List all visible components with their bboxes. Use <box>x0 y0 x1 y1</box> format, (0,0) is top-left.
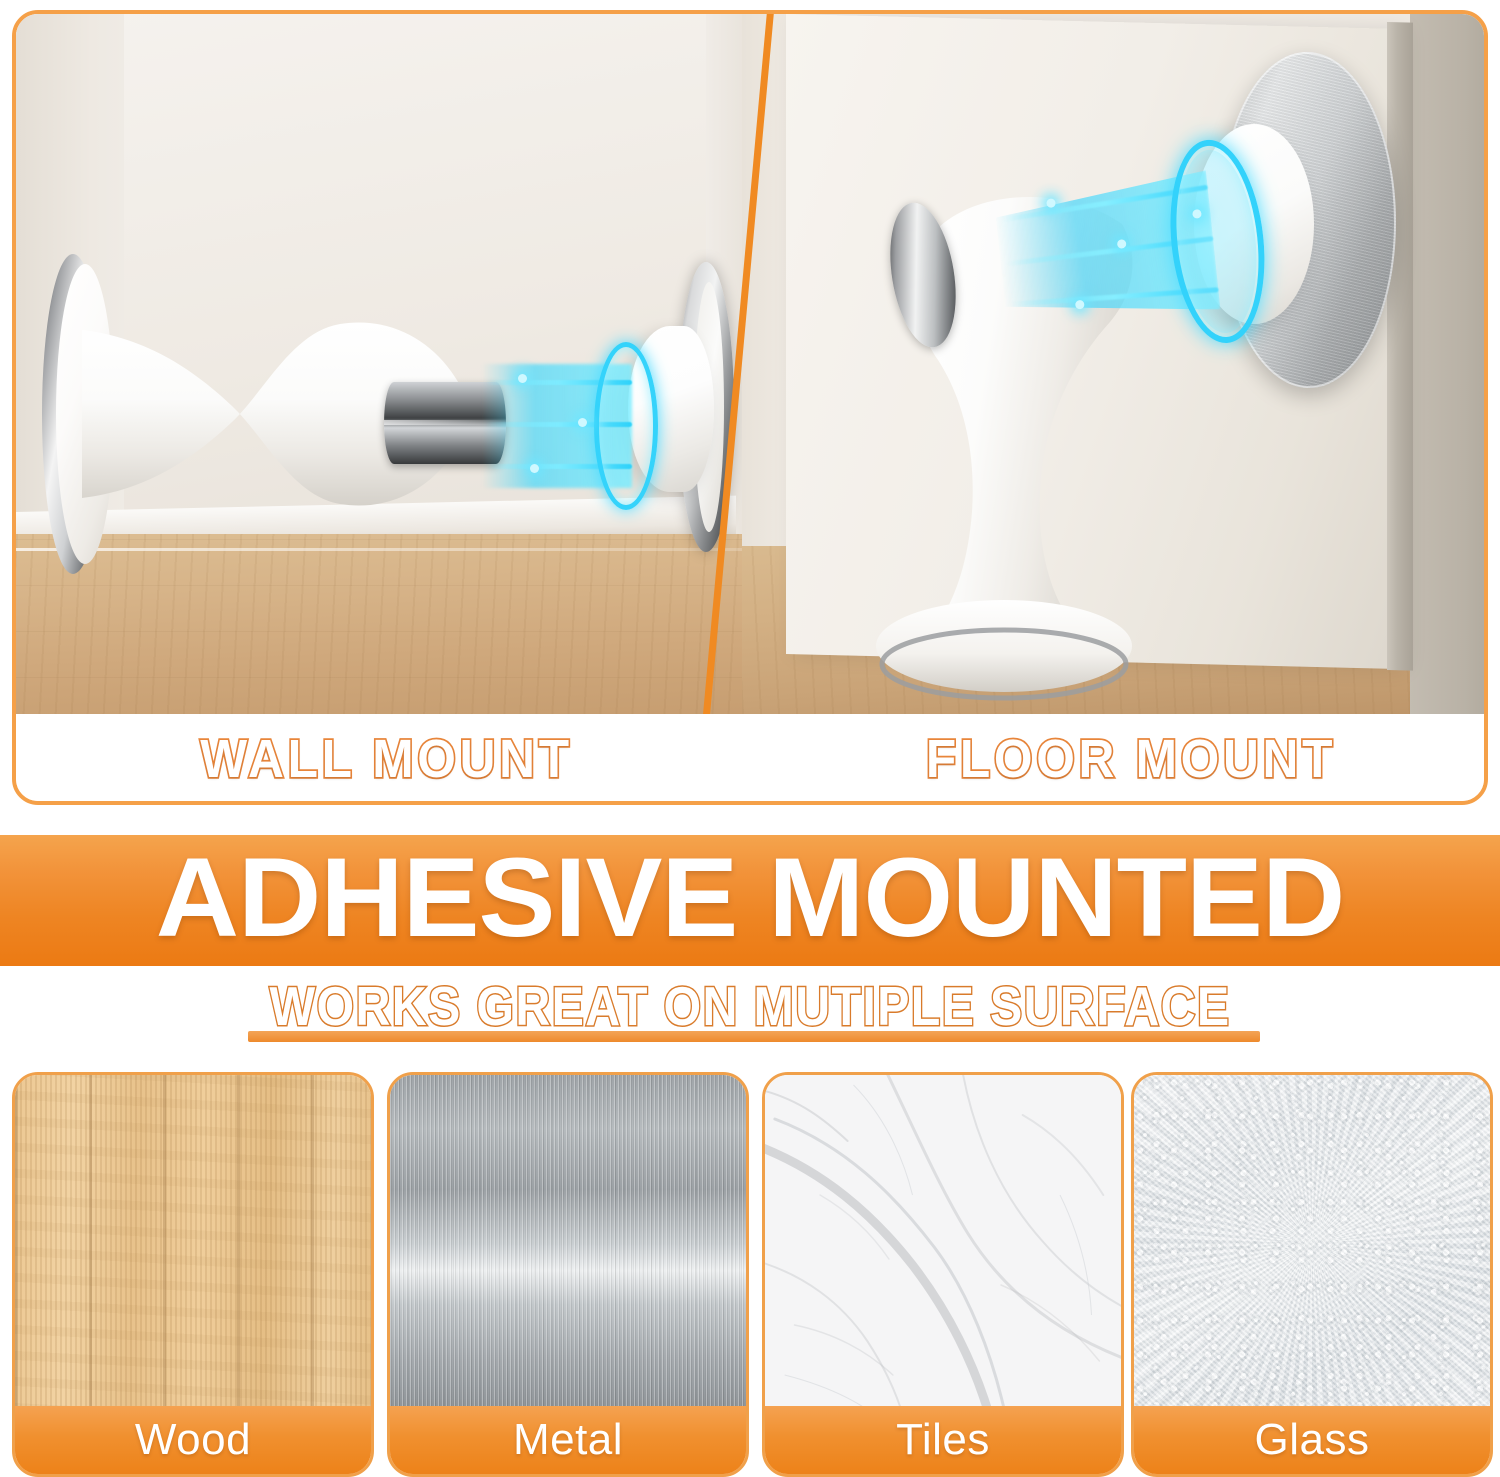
spark-icon <box>518 374 527 383</box>
floor-seam <box>16 548 806 551</box>
wood-texture-image <box>15 1075 371 1412</box>
metal-texture-image <box>390 1075 746 1412</box>
surface-label-bar: Glass <box>1134 1406 1490 1474</box>
surface-label-bar: Metal <box>390 1406 746 1474</box>
surface-tile-glass: Glass <box>1131 1072 1493 1477</box>
product-infographic: WALL MOUNT FLOOR MOUNT ADHESIVE MOUNTED … <box>0 0 1500 1477</box>
caption-wall-mount: WALL MOUNT <box>200 730 573 788</box>
surface-label-text: Metal <box>513 1415 623 1465</box>
headline-text: ADHESIVE MOUNTED <box>0 828 1500 968</box>
spark-icon <box>530 464 539 473</box>
surface-tile-tiles: Tiles <box>762 1072 1124 1477</box>
surface-label-bar: Tiles <box>765 1406 1121 1474</box>
magnet-field-ring <box>1161 135 1274 347</box>
surface-label-bar: Wood <box>15 1406 371 1474</box>
door-edge <box>1387 22 1413 671</box>
magnetic-field-beam <box>989 128 1282 373</box>
surface-label-text: Wood <box>135 1415 251 1465</box>
subtitle-text: WORKS GREAT ON MUTIPLE SURFACE <box>90 975 1410 1037</box>
headline-banner: ADHESIVE MOUNTED <box>0 835 1500 966</box>
floor-mount-scene <box>742 14 1484 714</box>
surface-tile-metal: Metal <box>387 1072 749 1477</box>
caption-bar: WALL MOUNT FLOOR MOUNT <box>16 714 1484 801</box>
back-wall <box>1410 14 1484 714</box>
surface-tile-wood: Wood <box>12 1072 374 1477</box>
subtitle-underline <box>248 1031 1260 1042</box>
spark-icon <box>1075 300 1085 310</box>
wall-mount-scene <box>16 14 806 714</box>
hero-photo-area <box>16 14 1484 714</box>
hero-panel: WALL MOUNT FLOOR MOUNT <box>12 10 1488 805</box>
magnetic-field-beam <box>482 336 660 514</box>
surface-tiles-row: Wood Metal <box>0 1072 1500 1477</box>
subtitle-area: WORKS GREAT ON MUTIPLE SURFACE <box>0 975 1500 1059</box>
magnet-field-ring <box>594 342 658 510</box>
caption-floor-mount: FLOOR MOUNT <box>926 730 1336 788</box>
marble-texture-image <box>765 1075 1121 1412</box>
wood-floor <box>16 534 806 714</box>
surface-label-text: Tiles <box>896 1415 990 1465</box>
surface-label-text: Glass <box>1255 1415 1370 1465</box>
spark-icon <box>578 418 587 427</box>
glass-texture-image <box>1134 1075 1490 1412</box>
